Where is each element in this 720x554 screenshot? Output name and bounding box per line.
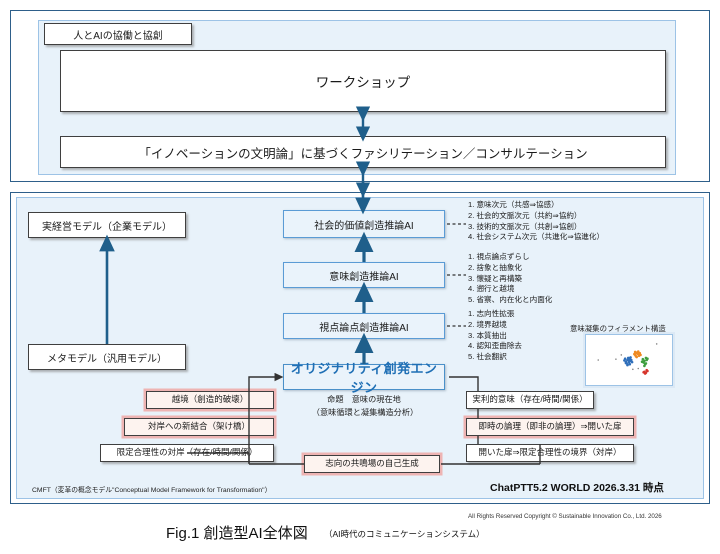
bullet-item: 2. 社会的文脈次元（共約⇒協約） [468, 211, 604, 222]
bullet-item: 2. 境界越境 [468, 320, 522, 331]
bullet-item: 5. 社会翻訳 [468, 352, 522, 363]
engine-note-line1: 命題 意味の現在地 [283, 394, 445, 406]
ai-module-meaning-creation-label: 意味創造推論AI [329, 268, 398, 283]
bullet-item: 3. 技術的文脈次元（共創⇒協創） [468, 222, 604, 233]
ai-module-social-value: 社会的価値創造推論AI [283, 210, 445, 238]
chain-left-new-combination-label: 対岸への新結合（架け橋） [148, 421, 250, 432]
chain-right-immediate-logic-label: 即時の論理（即非の論理）⇒開いた扉 [478, 421, 621, 432]
bullet-item: 4. 遡行と越境 [468, 284, 552, 295]
filament-scatter-thumbnail [585, 334, 673, 386]
chain-left-new-combination: 対岸への新結合（架け橋） [124, 418, 274, 436]
resonance-field-box: 志向の共鳴場の自己生成 [304, 455, 440, 473]
scatter-plot-svg [586, 335, 672, 385]
bullets-social-value: 1. 意味次元（共感⇒協感） 2. 社会的文脈次元（共約⇒協約） 3. 技術的文… [468, 200, 604, 243]
bullets-viewpoint-creation: 1. 志向性拡張 2. 境界越境 3. 本質抽出 4. 認知歪曲除去 5. 社会… [468, 309, 522, 363]
bullet-item: 2. 捨象と抽象化 [468, 263, 552, 274]
tag-human-ai-collaboration-label: 人とAIの協働と協創 [73, 27, 162, 42]
chain-left-bounded-rationality-label: 限定合理性の対岸（存在/時間/関係） [117, 447, 258, 458]
chain-left-crossing: 越境（創造的破壊） [146, 391, 274, 409]
meta-model-label: メタモデル（汎用モデル） [47, 350, 167, 365]
figure-title: Fig.1 創造型AI全体図 [166, 522, 308, 543]
tag-human-ai-collaboration: 人とAIの協働と協創 [44, 23, 192, 45]
business-model-label: 実経営モデル（企業モデル） [42, 218, 172, 233]
bullet-item: 1. 志向性拡張 [468, 309, 522, 320]
resonance-field-label: 志向の共鳴場の自己生成 [325, 458, 419, 469]
originality-engine-box: オリジナリティ創発エンジン [283, 364, 445, 390]
chain-right-open-door: 開いた扉⇒限定合理性の境界（対岸） [466, 444, 634, 462]
chatptt-version-label: ChatPTT5.2 WORLD 2026.3.31 時点 [490, 480, 664, 495]
meta-model-box: メタモデル（汎用モデル） [28, 344, 186, 370]
bullets-meaning-creation: 1. 視点論点ずらし 2. 捨象と抽象化 3. 懐疑と再構築 4. 遡行と越境 … [468, 252, 552, 306]
copyright-line: All Rights Reserved Copyright © Sustaina… [468, 513, 662, 520]
workshop-box: ワークショップ [60, 50, 666, 112]
ai-module-meaning-creation: 意味創造推論AI [283, 262, 445, 288]
bullet-item: 4. 認知歪曲除去 [468, 341, 522, 352]
facilitation-label: 「イノベーションの文明論」に基づくファシリテーション／コンサルテーション [138, 143, 587, 162]
ai-module-viewpoint-creation-label: 視点論点創造推論AI [319, 319, 408, 334]
thumbnail-caption: 意味凝集のフィラメント構造 [570, 323, 666, 334]
business-model-box: 実経営モデル（企業モデル） [28, 212, 186, 238]
chain-right-immediate-logic: 即時の論理（即非の論理）⇒開いた扉 [466, 418, 634, 436]
ai-module-viewpoint-creation: 視点論点創造推論AI [283, 313, 445, 339]
originality-engine-label: オリジナリティ創発エンジン [284, 358, 444, 396]
bullet-item: 4. 社会システム次元（共進化⇒協進化） [468, 232, 604, 243]
bullet-item: 1. 意味次元（共感⇒協感） [468, 200, 604, 211]
bullet-item: 3. 本質抽出 [468, 331, 522, 342]
chain-left-crossing-label: 越境（創造的破壊） [172, 394, 249, 405]
ai-module-social-value-label: 社会的価値創造推論AI [314, 217, 413, 232]
chain-left-bounded-rationality: 限定合理性の対岸（存在/時間/関係） [100, 444, 274, 462]
bullet-item: 1. 視点論点ずらし [468, 252, 552, 263]
chain-right-practical-meaning: 実利的意味（存在/時間/関係） [466, 391, 594, 409]
bullet-item: 5. 省察、内在化と内面化 [468, 295, 552, 306]
bullet-item: 3. 懐疑と再構築 [468, 274, 552, 285]
chain-right-practical-meaning-label: 実利的意味（存在/時間/関係） [472, 394, 587, 405]
engine-note-line2: （意味循環と凝集構造分析） [275, 407, 455, 419]
workshop-label: ワークショップ [316, 71, 411, 91]
chain-right-open-door-label: 開いた扉⇒限定合理性の境界（対岸） [478, 447, 621, 458]
figure-subtitle: （AI時代のコミュニケーションシステム） [324, 528, 485, 540]
facilitation-box: 「イノベーションの文明論」に基づくファシリテーション／コンサルテーション [60, 136, 666, 168]
cmft-footnote: CMFT（変革の概念モデル"Conceptual Model Framework… [32, 484, 271, 494]
